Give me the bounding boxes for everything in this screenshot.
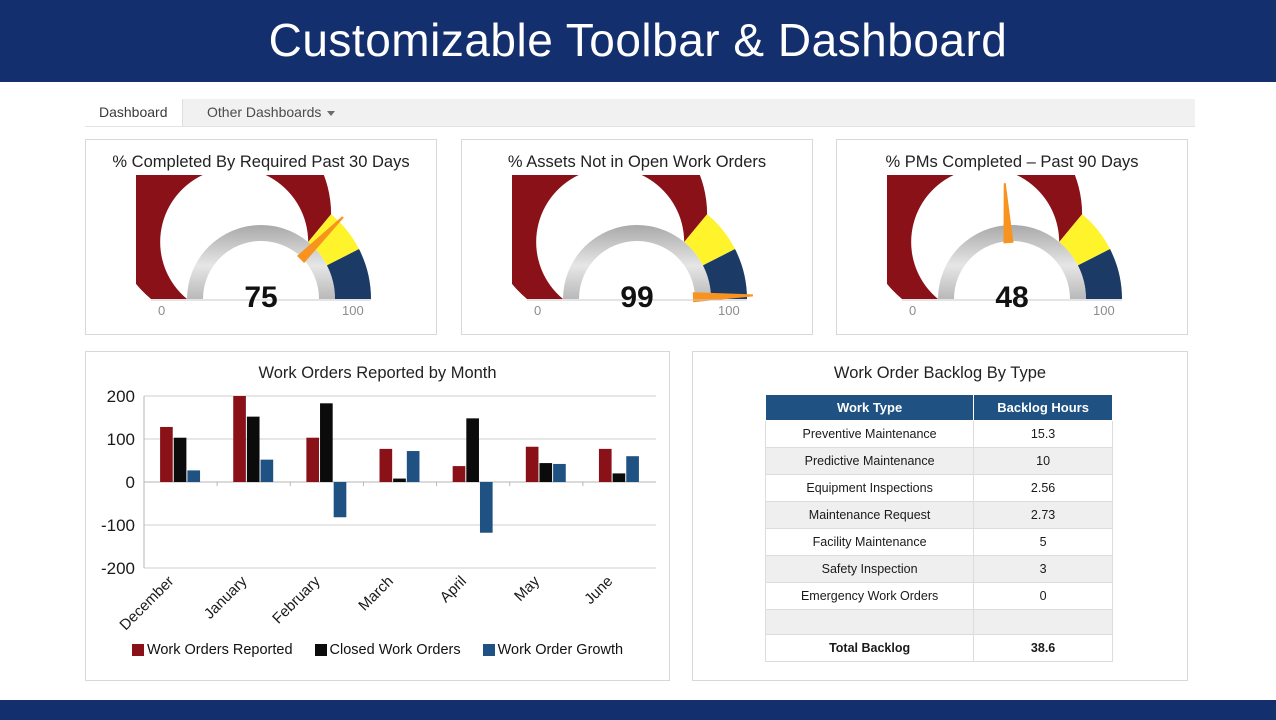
cell-backlog-hours: 2.56	[974, 475, 1113, 502]
tab-dashboard[interactable]: Dashboard	[85, 99, 183, 126]
gauge-title: % Completed By Required Past 30 Days	[86, 153, 436, 172]
backlog-table: Work Type Backlog Hours Preventive Maint…	[765, 394, 1113, 662]
table-title: Work Order Backlog By Type	[693, 364, 1187, 383]
cell-spacer	[974, 610, 1113, 635]
bar	[320, 403, 333, 482]
bar	[174, 438, 187, 482]
bar	[626, 456, 639, 482]
legend-label: Work Order Growth	[498, 642, 623, 658]
cell-work-type: Emergency Work Orders	[766, 583, 974, 610]
bar-chart-svg: 2001000-100-200DecemberJanuaryFebruaryMa…	[86, 378, 669, 666]
work-order-backlog-panel: Work Order Backlog By Type Work Type Bac…	[692, 351, 1188, 681]
legend-item[interactable]: Work Orders Reported	[132, 642, 293, 658]
chevron-down-icon	[327, 111, 335, 116]
cell-backlog-hours: 0	[974, 583, 1113, 610]
y-axis-tick-label: -200	[101, 559, 135, 578]
gauge-panel-pms-completed: % PMs Completed – Past 90 Days 480100	[836, 139, 1188, 335]
cell-backlog-hours: 2.73	[974, 502, 1113, 529]
x-axis-category-label: February	[269, 572, 324, 627]
gauge-max-label: 100	[342, 303, 364, 318]
table-row[interactable]: Maintenance Request2.73	[766, 502, 1113, 529]
gauge-needle	[1003, 183, 1013, 243]
cell-spacer	[766, 610, 974, 635]
x-axis-category-label: April	[437, 573, 470, 606]
table-row[interactable]: Emergency Work Orders0	[766, 583, 1113, 610]
bar	[306, 438, 319, 482]
bar	[526, 447, 539, 482]
legend-swatch-icon	[132, 644, 144, 656]
table-row[interactable]: Equipment Inspections2.56	[766, 475, 1113, 502]
gauge-assets-not-in-open-wo: 990100	[462, 175, 812, 327]
legend-label: Closed Work Orders	[330, 642, 461, 658]
gauge-max-label: 100	[718, 303, 740, 318]
cell-backlog-hours: 3	[974, 556, 1113, 583]
table-row[interactable]: Preventive Maintenance15.3	[766, 421, 1113, 448]
bar	[261, 460, 274, 482]
gauge-panel-completed-by-required: % Completed By Required Past 30 Days 750…	[85, 139, 437, 335]
gauge-pms-completed: 480100	[837, 175, 1187, 327]
dashboard-tabbar: Dashboard Other Dashboards	[85, 99, 1195, 127]
y-axis-tick-label: 100	[107, 430, 135, 449]
column-header-backlog-hours: Backlog Hours	[974, 395, 1113, 421]
bar	[407, 451, 420, 482]
gauge-panel-assets-not-in-open-wo: % Assets Not in Open Work Orders 990100	[461, 139, 813, 335]
work-orders-bar-chart: 2001000-100-200DecemberJanuaryFebruaryMa…	[86, 378, 669, 671]
tab-other-dashboards-label: Other Dashboards	[207, 104, 321, 120]
table-spacer-row	[766, 610, 1113, 635]
bar	[466, 418, 479, 482]
bar	[393, 479, 406, 482]
legend-swatch-icon	[483, 644, 495, 656]
table-row[interactable]: Facility Maintenance5	[766, 529, 1113, 556]
gauge-min-label: 0	[158, 303, 165, 318]
gauge-title: % Assets Not in Open Work Orders	[462, 153, 812, 172]
bar	[160, 427, 173, 482]
legend-swatch-icon	[315, 644, 327, 656]
chart-legend: Work Orders ReportedClosed Work OrdersWo…	[86, 642, 669, 658]
x-axis-category-label: June	[581, 573, 616, 608]
cell-work-type: Facility Maintenance	[766, 529, 974, 556]
bar	[599, 449, 612, 482]
bar	[613, 473, 626, 482]
cell-backlog-hours: 5	[974, 529, 1113, 556]
x-axis-category-label: January	[201, 572, 251, 622]
gauge-min-label: 0	[909, 303, 916, 318]
table-row[interactable]: Safety Inspection3	[766, 556, 1113, 583]
page-title: Customizable Toolbar & Dashboard	[0, 8, 1276, 72]
bar	[380, 449, 393, 482]
x-axis-category-label: March	[355, 573, 396, 614]
cell-work-type: Preventive Maintenance	[766, 421, 974, 448]
cell-backlog-hours: 15.3	[974, 421, 1113, 448]
x-axis-category-label: December	[116, 573, 177, 634]
cell-backlog-hours: 10	[974, 448, 1113, 475]
bar	[334, 482, 347, 517]
cell-work-type: Equipment Inspections	[766, 475, 974, 502]
x-axis-category-label: May	[511, 572, 543, 604]
column-header-work-type: Work Type	[766, 395, 974, 421]
table-header-row: Work Type Backlog Hours	[766, 395, 1113, 421]
cell-work-type: Predictive Maintenance	[766, 448, 974, 475]
gauge-max-label: 100	[1093, 303, 1115, 318]
table-total-row: Total Backlog38.6	[766, 635, 1113, 662]
gauge-value: 75	[86, 281, 436, 315]
tab-other-dashboards[interactable]: Other Dashboards	[195, 99, 347, 126]
footer-bar	[0, 700, 1276, 720]
cell-work-type: Maintenance Request	[766, 502, 974, 529]
legend-label: Work Orders Reported	[147, 642, 293, 658]
y-axis-tick-label: 200	[107, 387, 135, 406]
bar	[553, 464, 566, 482]
legend-item[interactable]: Closed Work Orders	[315, 642, 461, 658]
y-axis-tick-label: -100	[101, 516, 135, 535]
header-banner: Customizable Toolbar & Dashboard	[0, 0, 1276, 82]
work-orders-by-month-panel: Work Orders Reported by Month 2001000-10…	[85, 351, 670, 681]
gauge-title: % PMs Completed – Past 90 Days	[837, 153, 1187, 172]
bar	[480, 482, 493, 533]
table-row[interactable]: Predictive Maintenance10	[766, 448, 1113, 475]
bar	[247, 417, 260, 482]
y-axis-tick-label: 0	[126, 473, 135, 492]
gauge-completed-by-required: 750100	[86, 175, 436, 327]
bar	[233, 396, 246, 482]
bar	[539, 463, 552, 482]
cell-work-type: Safety Inspection	[766, 556, 974, 583]
legend-item[interactable]: Work Order Growth	[483, 642, 623, 658]
cell-total-label: Total Backlog	[766, 635, 974, 662]
gauge-value: 48	[837, 281, 1187, 315]
bar	[187, 470, 200, 482]
gauge-min-label: 0	[534, 303, 541, 318]
cell-total-hours: 38.6	[974, 635, 1113, 662]
gauge-value: 99	[462, 281, 812, 315]
bar	[453, 466, 466, 482]
